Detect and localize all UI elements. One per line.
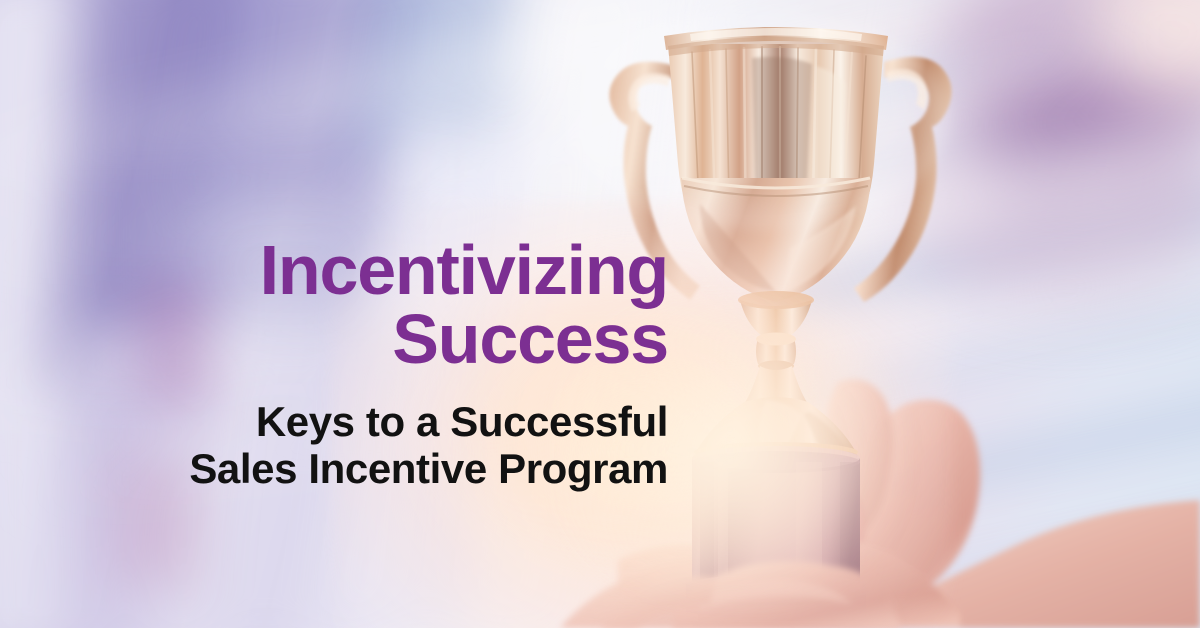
subhead-line-2: Sales Incentive Program (0, 445, 668, 492)
page-subtitle: Keys to a Successful Sales Incentive Pro… (0, 398, 668, 492)
promo-banner: Incentivizing Success Keys to a Successf… (0, 0, 1200, 628)
subhead-line-1: Keys to a Successful (256, 398, 668, 445)
banner-text-block: Incentivizing Success Keys to a Successf… (0, 236, 668, 492)
headline-line-2: Success (0, 305, 668, 374)
page-title: Incentivizing Success (0, 236, 668, 375)
headline-line-1: Incentivizing (260, 231, 668, 309)
